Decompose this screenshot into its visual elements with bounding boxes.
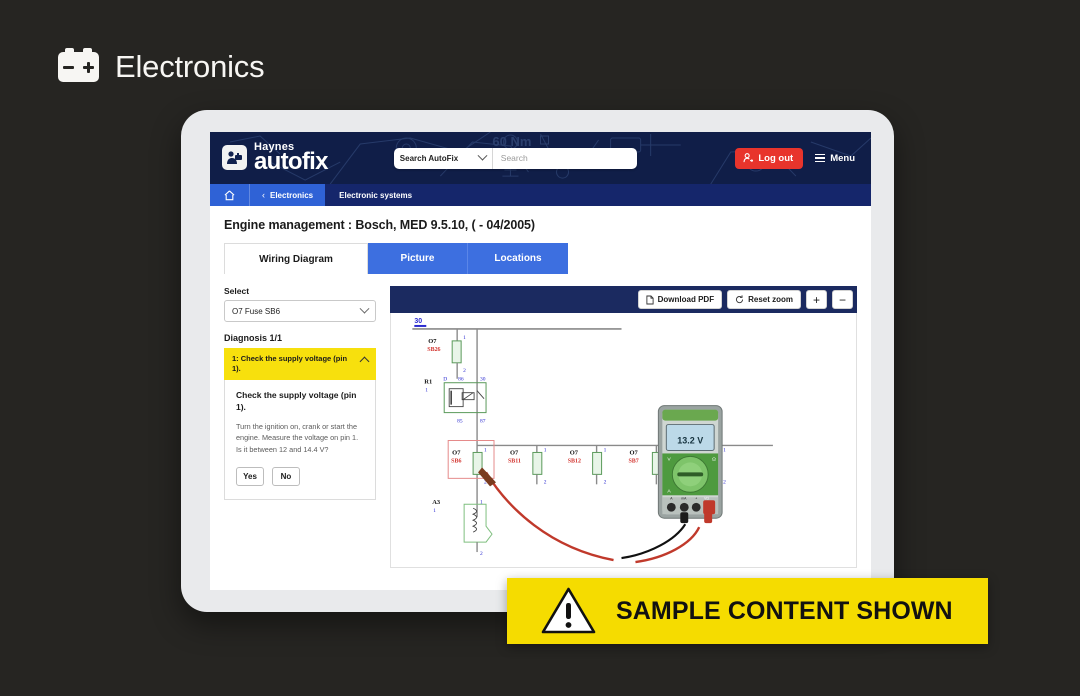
tablet-screen: 60 Nm Haynes autofix <box>210 132 871 590</box>
diagnosis-step-text: Turn the ignition on, crank or start the… <box>236 421 364 455</box>
menu-button[interactable]: Menu <box>815 153 855 164</box>
battery-icon <box>58 52 99 82</box>
search-category-select[interactable]: Search AutoFix <box>394 148 493 169</box>
header-actions: Log out Menu <box>735 148 859 169</box>
wiring-diagram-canvas[interactable]: 30 O7 SB26 1 2 <box>390 313 857 568</box>
svg-text:SB12: SB12 <box>568 458 581 464</box>
mechanic-glyph <box>226 150 243 165</box>
svg-text:60 Nm: 60 Nm <box>492 134 531 149</box>
haynes-logo-icon <box>222 145 247 170</box>
fuse-select-value: O7 Fuse SB6 <box>232 307 280 316</box>
diagram-toolbar: Download PDF Reset zoom + − <box>390 286 857 313</box>
tab-locations[interactable]: Locations <box>468 243 568 274</box>
svg-text:1: 1 <box>604 447 607 453</box>
logout-button[interactable]: Log out <box>735 148 803 169</box>
svg-text:2: 2 <box>463 368 466 374</box>
brand-logo[interactable]: Haynes autofix <box>222 143 328 172</box>
black-test-lead <box>622 524 686 558</box>
page-content: Engine management : Bosch, MED 9.5.10, (… <box>210 206 871 590</box>
user-icon <box>743 153 753 163</box>
sample-content-banner: SAMPLE CONTENT SHOWN <box>507 578 988 644</box>
red-test-lead <box>486 472 613 560</box>
breadcrumb-home-button[interactable] <box>210 184 249 206</box>
tab-picture[interactable]: Picture <box>368 243 468 274</box>
svg-text:2: 2 <box>723 479 726 485</box>
warning-triangle-icon <box>541 587 596 635</box>
svg-text:+: + <box>695 496 697 500</box>
multimeter-reading: 13.2 V <box>677 435 703 445</box>
tab-wiring-diagram[interactable]: Wiring Diagram <box>224 243 368 274</box>
answer-yes-button[interactable]: Yes <box>236 467 264 486</box>
screenshot-root: Electronics <box>0 0 1080 696</box>
svg-text:1: 1 <box>723 447 726 453</box>
svg-text:O7: O7 <box>629 449 638 456</box>
multimeter: 13.2 V V Ω A <box>658 406 722 524</box>
file-icon <box>646 295 654 305</box>
svg-text:mA: mA <box>681 496 687 500</box>
sample-content-label: SAMPLE CONTENT SHOWN <box>616 597 953 626</box>
svg-text:2: 2 <box>604 479 607 485</box>
svg-text:30: 30 <box>480 377 486 383</box>
svg-text:2: 2 <box>480 551 483 557</box>
download-pdf-button[interactable]: Download PDF <box>638 290 722 309</box>
answer-no-button[interactable]: No <box>272 467 300 486</box>
panes: Select O7 Fuse SB6 Diagnosis 1/1 1: Chec… <box>224 286 857 568</box>
diagnosis-accordion-header[interactable]: 1: Check the supply voltage (pin 1). <box>224 348 376 380</box>
svg-text:SB7: SB7 <box>628 458 638 464</box>
svg-text:O7: O7 <box>428 338 437 345</box>
page-title: Electronics <box>115 49 264 85</box>
chevron-up-icon <box>360 357 370 367</box>
svg-text:O7: O7 <box>510 449 519 456</box>
reset-zoom-label: Reset zoom <box>748 295 793 304</box>
home-icon <box>224 190 235 201</box>
svg-text:87: 87 <box>480 419 486 425</box>
svg-text:O7: O7 <box>570 449 579 456</box>
svg-text:1: 1 <box>463 335 466 341</box>
wiring-diagram-svg: 30 O7 SB26 1 2 <box>391 313 856 567</box>
logout-label: Log out <box>758 153 793 164</box>
zoom-out-button[interactable]: − <box>832 290 853 309</box>
svg-text:SB26: SB26 <box>427 347 440 353</box>
diagnosis-step-title: Check the supply voltage (pin 1). <box>236 390 364 414</box>
search-bar[interactable]: Search AutoFix Search <box>394 148 637 169</box>
tab-bar: Wiring Diagram Picture Locations <box>224 243 857 274</box>
svg-text:SB6: SB6 <box>451 458 461 464</box>
diagnosis-sidebar: Select O7 Fuse SB6 Diagnosis 1/1 1: Chec… <box>224 286 376 568</box>
page-heading: Electronics <box>58 49 264 85</box>
diagram-viewer: Download PDF Reset zoom + − <box>390 286 857 568</box>
breadcrumb-back-electronics[interactable]: ‹ Electronics <box>249 184 325 206</box>
select-label: Select <box>224 286 376 296</box>
chevron-down-icon <box>477 150 487 160</box>
svg-text:1: 1 <box>425 388 428 394</box>
fuse-select[interactable]: O7 Fuse SB6 <box>224 300 376 322</box>
probe-tip <box>478 467 496 486</box>
refresh-icon <box>735 295 744 304</box>
svg-text:VΩ: VΩ <box>704 496 709 500</box>
zoom-in-button[interactable]: + <box>806 290 827 309</box>
diagnosis-accordion-body: Check the supply voltage (pin 1). Turn t… <box>224 380 376 500</box>
svg-text:85: 85 <box>457 419 463 425</box>
svg-text:1: 1 <box>544 447 547 453</box>
breadcrumb-current: Electronic systems <box>325 184 426 206</box>
diagram-bus-label: 30 <box>414 318 422 325</box>
download-pdf-label: Download PDF <box>658 295 714 304</box>
svg-text:D: D <box>443 377 447 383</box>
search-input[interactable]: Search <box>493 153 637 163</box>
svg-text:86: 86 <box>458 377 464 383</box>
app-header: 60 Nm Haynes autofix <box>210 132 871 184</box>
document-title: Engine management : Bosch, MED 9.5.10, (… <box>224 218 857 232</box>
svg-text:1: 1 <box>480 499 483 505</box>
brand-autofix-text: autofix <box>254 151 328 173</box>
svg-text:Ω: Ω <box>712 456 716 462</box>
hamburger-icon <box>815 154 825 163</box>
chevron-left-icon: ‹ <box>262 190 265 200</box>
diagnosis-accordion-header-label: 1: Check the supply voltage (pin 1). <box>232 354 355 374</box>
answer-buttons: Yes No <box>236 467 364 486</box>
breadcrumb: ‹ Electronics Electronic systems <box>210 184 871 206</box>
reset-zoom-button[interactable]: Reset zoom <box>727 290 801 309</box>
diagnosis-label: Diagnosis 1/1 <box>224 333 376 343</box>
search-category-label: Search AutoFix <box>400 154 458 163</box>
svg-text:O7: O7 <box>452 449 461 456</box>
menu-label: Menu <box>830 153 855 164</box>
svg-text:R1: R1 <box>424 379 432 386</box>
breadcrumb-back-label: Electronics <box>270 191 313 200</box>
svg-text:A3: A3 <box>432 499 441 506</box>
svg-text:1: 1 <box>433 508 436 514</box>
svg-text:2: 2 <box>544 479 547 485</box>
tablet-frame: 60 Nm Haynes autofix <box>181 110 894 612</box>
chevron-down-icon <box>360 303 370 313</box>
svg-text:SB11: SB11 <box>508 458 521 464</box>
svg-text:1: 1 <box>484 447 487 453</box>
